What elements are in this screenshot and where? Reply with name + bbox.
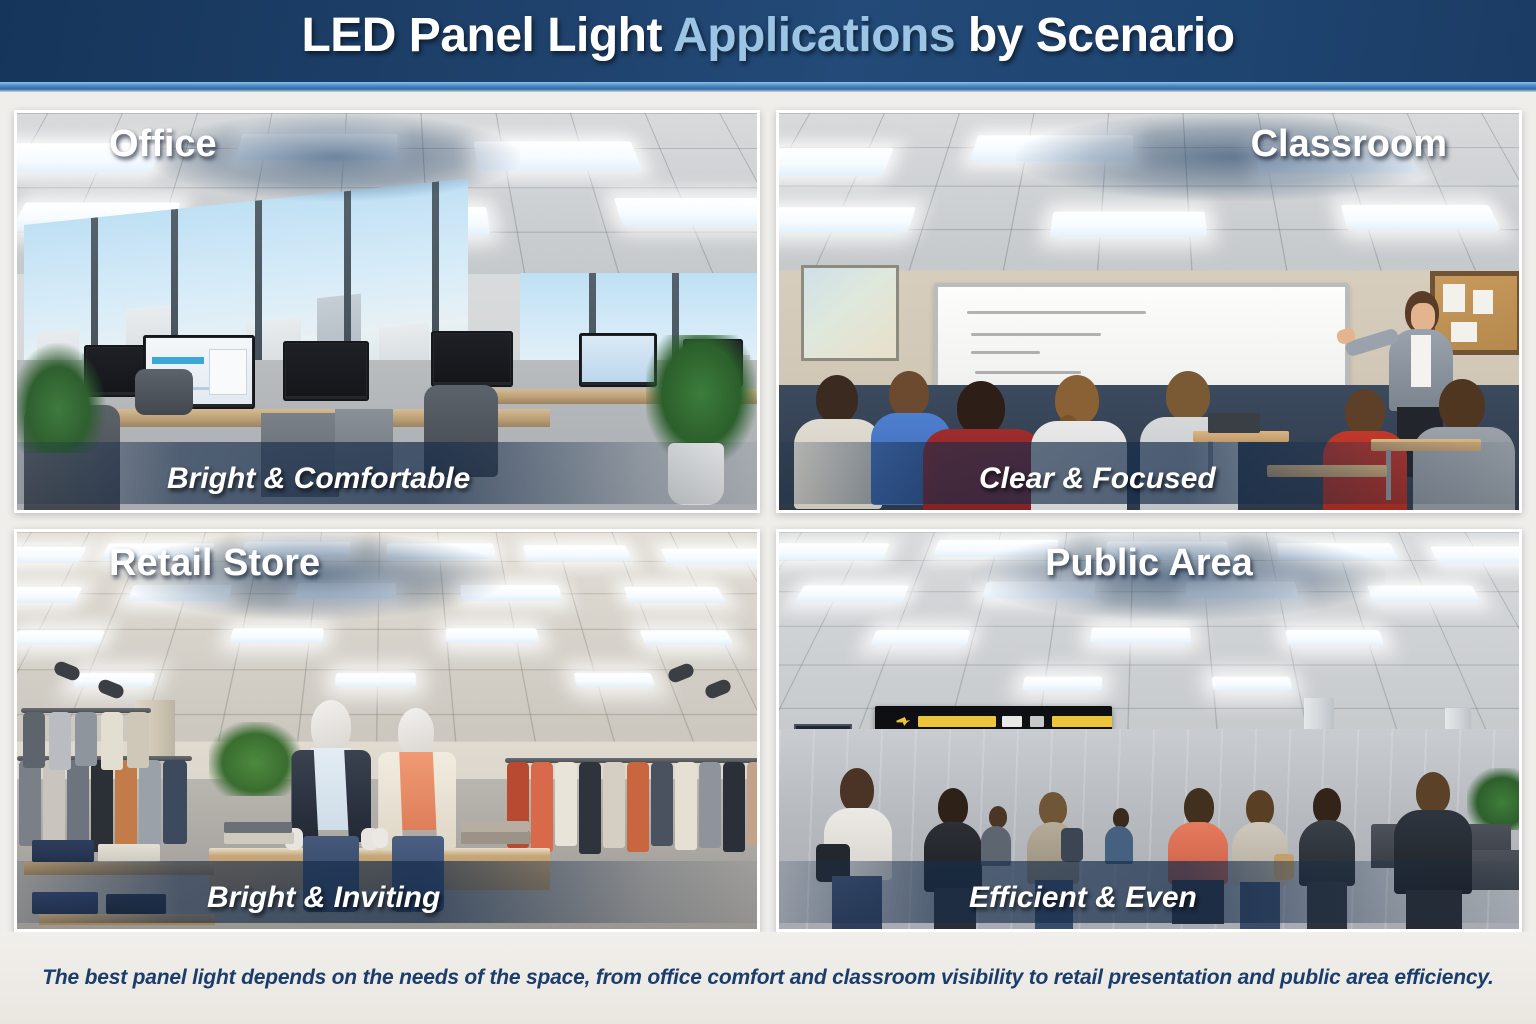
traveller-backpack xyxy=(1061,828,1083,862)
led-panel-icon xyxy=(1367,585,1481,601)
traveller-head xyxy=(1113,808,1129,828)
led-panel-icon xyxy=(795,585,909,601)
led-panel-icon xyxy=(229,628,323,643)
traveller-head xyxy=(1416,772,1450,814)
led-panel-icon xyxy=(459,585,562,601)
traveller-suit xyxy=(1394,810,1472,894)
garment xyxy=(699,762,721,848)
led-panel-icon xyxy=(387,544,496,560)
ceiling-tile-grid xyxy=(779,113,1519,270)
traveller-distant xyxy=(1105,808,1135,886)
led-panel-icon xyxy=(523,545,632,561)
student-shirt xyxy=(794,419,882,509)
led-panel-icon xyxy=(779,148,893,175)
folded-jeans-stack xyxy=(32,840,94,862)
mannequin-jeans xyxy=(303,836,359,912)
traveller-jeans xyxy=(832,876,882,929)
led-panel-icon xyxy=(240,542,350,557)
folded-clothes-stack xyxy=(106,894,166,914)
traveller xyxy=(1386,772,1480,929)
student-head xyxy=(889,371,929,417)
led-panel-icon xyxy=(101,544,214,560)
folded-clothes-stack xyxy=(224,822,292,833)
traveller-jeans xyxy=(1035,880,1073,929)
header-accent-stripe xyxy=(0,82,1536,92)
office-cabinet xyxy=(335,409,393,489)
student xyxy=(1031,375,1123,503)
folded-clothes-stack xyxy=(224,832,294,844)
led-panel-icon xyxy=(982,582,1095,598)
page-footer: The best panel light depends on the need… xyxy=(0,932,1536,1024)
traveller-skirt xyxy=(1172,880,1224,924)
led-panel-icon xyxy=(17,547,86,563)
led-panel-icon xyxy=(445,628,539,643)
garment xyxy=(23,712,45,768)
traveller xyxy=(920,788,988,928)
mannequin-male xyxy=(283,700,379,900)
desk-leg xyxy=(1208,441,1213,489)
traveller-distant xyxy=(979,806,1013,890)
led-panel-icon xyxy=(779,543,889,560)
traveller-head xyxy=(1313,788,1341,824)
retail-garment-rack-upper-left xyxy=(21,708,151,780)
student-head xyxy=(1345,389,1385,435)
led-panel-icon xyxy=(970,135,1133,161)
sign-text-chip xyxy=(1052,716,1112,727)
traveller-trousers xyxy=(1240,882,1280,929)
panel-retail[interactable]: Retail Store Bright & Inviting xyxy=(14,529,760,932)
led-panel-icon xyxy=(17,143,162,172)
traveller xyxy=(1230,790,1292,929)
garment xyxy=(531,762,553,852)
led-panel-icon xyxy=(573,673,655,687)
garment xyxy=(675,762,697,850)
office-cabinet xyxy=(261,413,339,497)
page-title: LED Panel Light Applications by Scenario xyxy=(0,8,1536,63)
mannequin-head xyxy=(311,700,351,752)
traveller-head xyxy=(1246,790,1274,826)
corkboard-note xyxy=(1473,290,1493,314)
mannequin-head xyxy=(398,708,434,756)
led-panel-icon xyxy=(17,587,82,603)
traveller xyxy=(816,768,902,929)
title-part-2: by Scenario xyxy=(955,9,1234,62)
garment xyxy=(163,760,187,844)
panel-classroom[interactable]: Classroom Clear & Focused xyxy=(776,110,1522,513)
traveller-body xyxy=(1105,826,1133,864)
classroom-desk xyxy=(1267,465,1387,477)
office-chair xyxy=(135,369,193,415)
led-panel-icon xyxy=(17,630,105,645)
garment xyxy=(603,762,625,848)
traveller xyxy=(1297,788,1359,928)
traveller-body xyxy=(981,826,1011,866)
student-head xyxy=(1166,371,1210,421)
traveller-coat xyxy=(1299,820,1355,886)
retail-display-table xyxy=(24,862,214,875)
led-panel-icon xyxy=(334,673,415,687)
garment xyxy=(75,712,97,766)
footer-summary-text: The best panel light depends on the need… xyxy=(42,966,1493,990)
folded-clothes-stack xyxy=(461,832,531,844)
traveller-head xyxy=(840,768,874,812)
office-chair xyxy=(424,385,498,477)
traveller-head xyxy=(938,788,968,826)
public-area-scene xyxy=(779,532,1519,929)
garment xyxy=(579,762,601,854)
traveller-head xyxy=(1184,788,1214,826)
panel-office[interactable]: Office Bright & Comfortable xyxy=(14,110,760,513)
plane-icon xyxy=(896,717,910,726)
title-part-1: LED Panel Light xyxy=(301,9,673,62)
led-panel-icon xyxy=(474,141,642,170)
student xyxy=(927,381,1037,510)
garment xyxy=(555,762,577,846)
mannequin-jeans xyxy=(392,836,444,912)
led-panel-icon xyxy=(1254,146,1418,173)
garment xyxy=(723,762,745,852)
classroom-wall-map xyxy=(801,265,899,361)
led-panel-icon xyxy=(295,583,395,599)
whiteboard-writing xyxy=(971,351,1040,354)
traveller-coat xyxy=(924,822,982,892)
led-panel-icon xyxy=(1340,205,1500,230)
led-panel-icon xyxy=(1276,543,1397,560)
led-panel-icon xyxy=(1089,628,1190,643)
traveller xyxy=(1023,792,1083,922)
led-panel-icon xyxy=(779,207,915,232)
garment xyxy=(627,762,649,852)
whiteboard-writing xyxy=(967,311,1146,314)
plant-pot xyxy=(668,443,724,505)
traveller-trousers xyxy=(1406,890,1462,929)
teacher-face xyxy=(1411,303,1435,331)
led-panel-icon xyxy=(933,540,1059,557)
garment xyxy=(49,712,71,770)
garment xyxy=(651,762,673,846)
mannequin-hand xyxy=(372,828,388,848)
led-panel-icon xyxy=(1430,547,1519,564)
student-laptop xyxy=(1208,413,1260,433)
office-monitor xyxy=(431,331,513,387)
office-plant-left xyxy=(17,343,106,453)
folded-clothes-stack xyxy=(461,821,529,832)
sign-row xyxy=(896,716,1090,727)
scenario-grid: Office Bright & Comfortable xyxy=(0,96,1536,932)
led-panel-icon xyxy=(614,198,757,225)
traveller-handbag xyxy=(1274,854,1294,880)
office-scene xyxy=(17,113,757,510)
led-panel-icon xyxy=(1022,677,1102,691)
led-panel-icon xyxy=(1185,582,1298,598)
sign-text-chip xyxy=(1002,716,1022,727)
retail-display-table xyxy=(39,914,215,925)
student-shirt xyxy=(1031,421,1127,510)
led-panel-icon xyxy=(1212,677,1293,691)
led-panel-icon xyxy=(660,549,757,565)
led-panel-icon xyxy=(127,585,232,601)
led-panel-icon xyxy=(639,630,733,645)
mannequin-top xyxy=(398,752,436,830)
folded-shirts-stack xyxy=(98,844,160,862)
traveller-head xyxy=(989,806,1007,828)
sign-text-chip xyxy=(918,716,996,727)
led-panel-icon xyxy=(870,630,970,646)
traveller-trousers xyxy=(934,888,976,929)
led-panel-icon xyxy=(1106,542,1230,559)
whiteboard-writing xyxy=(971,333,1101,336)
student-hoodie xyxy=(923,429,1043,510)
title-accent: Applications xyxy=(673,9,955,62)
retail-scene xyxy=(17,532,757,929)
office-monitor xyxy=(283,341,369,401)
led-panel-icon xyxy=(1285,630,1384,646)
traveller xyxy=(1164,788,1234,929)
traveller-trousers xyxy=(1307,882,1347,929)
led-panel-icon xyxy=(623,587,725,603)
traveller-head xyxy=(1039,792,1067,826)
student-head xyxy=(957,381,1005,435)
sign-text-chip xyxy=(1030,716,1044,727)
garment xyxy=(747,762,757,846)
classroom-scene xyxy=(779,113,1519,510)
panel-public-area[interactable]: Public Area Efficient & Even xyxy=(776,529,1522,932)
led-panel-icon xyxy=(1049,212,1206,238)
mannequin-female xyxy=(372,708,462,908)
garment xyxy=(127,712,149,768)
student-head xyxy=(1439,379,1485,431)
traveller-top xyxy=(1168,822,1228,884)
student xyxy=(794,375,878,495)
student-head xyxy=(816,375,858,423)
classroom-ceiling xyxy=(779,113,1519,270)
whiteboard-writing xyxy=(975,371,1081,374)
led-panel-icon xyxy=(235,134,397,160)
garment xyxy=(101,712,123,770)
folded-clothes-stack xyxy=(32,892,98,914)
page-header: LED Panel Light Applications by Scenario xyxy=(0,0,1536,92)
